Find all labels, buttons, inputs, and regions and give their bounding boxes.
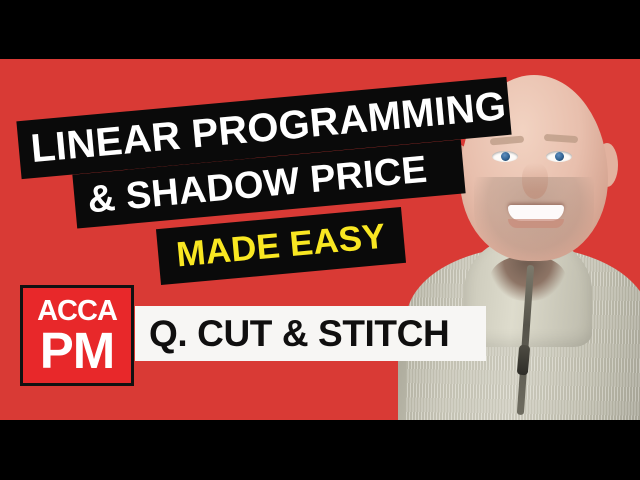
pupil-right [555, 152, 564, 161]
nose [522, 163, 548, 199]
acca-pm-logo: ACCA PM [20, 285, 134, 386]
pupil-left [501, 152, 510, 161]
subtitle-bar: Q. CUT & STITCH [135, 306, 486, 361]
thumbnail-stage: LINEAR PROGRAMMING & SHADOW PRICE MADE E… [0, 59, 640, 420]
subtitle-text: Q. CUT & STITCH [149, 313, 449, 355]
lower-lip [508, 219, 564, 228]
headline-bar-line3: MADE EASY [156, 207, 406, 285]
letterbox-top [0, 0, 640, 59]
letterbox-bottom [0, 420, 640, 480]
video-thumbnail: LINEAR PROGRAMMING & SHADOW PRICE MADE E… [0, 0, 640, 480]
logo-pm-text: PM [40, 327, 115, 375]
